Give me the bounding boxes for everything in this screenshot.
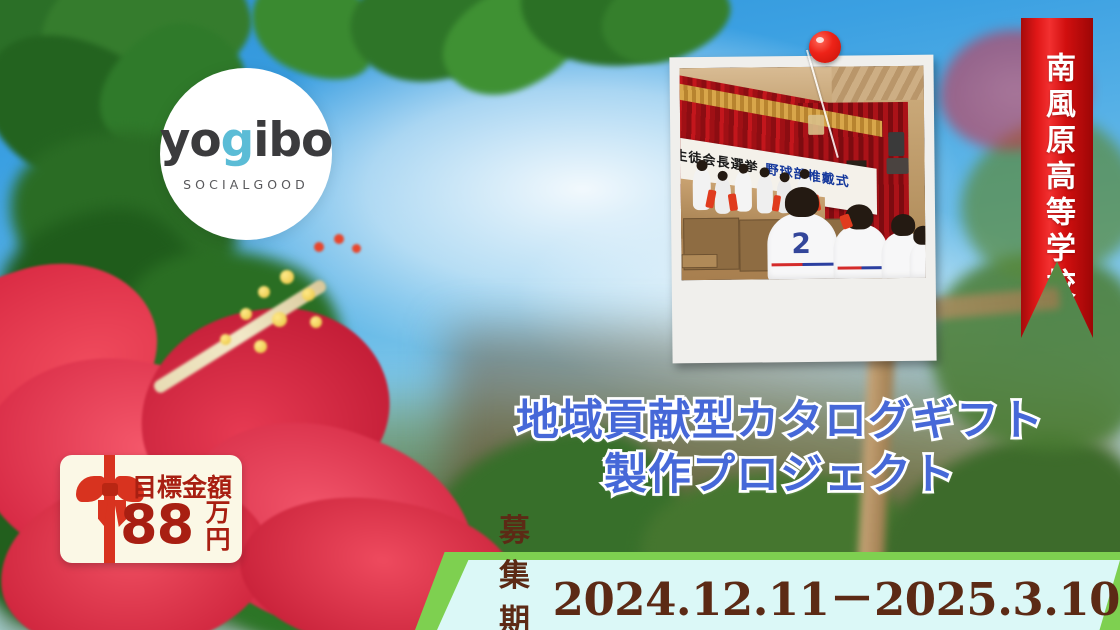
player-head [785, 187, 819, 217]
project-title-line-2: 製作プロジェクト [500, 448, 1060, 502]
person [757, 175, 773, 213]
wall-crest [808, 115, 824, 135]
person-head [739, 164, 749, 174]
flower-pollen [272, 312, 287, 327]
flower-pollen [280, 270, 294, 284]
speaker-icon [886, 158, 908, 174]
flower-pollen [220, 334, 231, 345]
flower-stigma [334, 234, 344, 244]
flower-pollen [310, 316, 322, 328]
goal-unit-man: 万 [196, 500, 240, 527]
recruitment-period-content: 募集期間 2024.12.11－2025.3.10 [437, 560, 1120, 630]
campaign-banner: yogibo SOCIALGOOD 生徒会長選挙野球部推戴式 [0, 0, 1120, 630]
project-title: 地域貢献型カタログギフト 製作プロジェクト [500, 394, 1060, 502]
person-head [760, 167, 770, 177]
brand-tagline: SOCIALGOOD [183, 177, 309, 192]
bow-knot [102, 483, 118, 496]
brand-word-right: ibo [253, 113, 332, 168]
speaker-icon [888, 132, 904, 156]
player-jersey [833, 224, 888, 280]
person-head [800, 169, 810, 179]
player-head [891, 214, 915, 236]
flower-pollen [254, 340, 267, 353]
gym-scene: 生徒会長選挙野球部推戴式 [680, 66, 926, 281]
goal-amount-badge: 目標金額 88 万 円 [60, 455, 242, 563]
goal-unit: 万 円 [196, 500, 240, 553]
flower-stigma [352, 244, 361, 253]
player-head [913, 226, 926, 245]
polaroid-photo: 生徒会長選挙野球部推戴式 [669, 55, 936, 364]
yogibo-logo: yogibo SOCIALGOOD [160, 68, 332, 240]
person-head [780, 172, 790, 182]
red-pushpin-icon [809, 31, 841, 63]
project-title-line-1: 地域貢献型カタログギフト [500, 394, 1060, 448]
photo-image: 生徒会長選挙野球部推戴式 [680, 66, 926, 281]
recruitment-period-label: 募集期間 [499, 505, 537, 630]
pushpin-highlight [816, 37, 824, 43]
flower-stigma [314, 242, 324, 252]
brand-word-left: yo [160, 113, 221, 168]
player-number: 2 [791, 227, 811, 260]
flower-pollen [302, 288, 315, 301]
brand-wordmark: yogibo [160, 117, 333, 164]
person-head [696, 160, 707, 171]
recruitment-period-dates: 2024.12.11－2025.3.10 [553, 563, 1120, 628]
jersey-stripe [838, 266, 886, 270]
brand-word-accent: g [221, 113, 254, 168]
person-head [718, 171, 728, 181]
flower-pollen [258, 286, 270, 298]
goal-unit-yen: 円 [196, 527, 240, 554]
flower-pollen [240, 308, 252, 320]
goal-amount-value: 88 [120, 499, 193, 551]
stage-step [681, 254, 717, 268]
player-jersey [909, 242, 925, 280]
